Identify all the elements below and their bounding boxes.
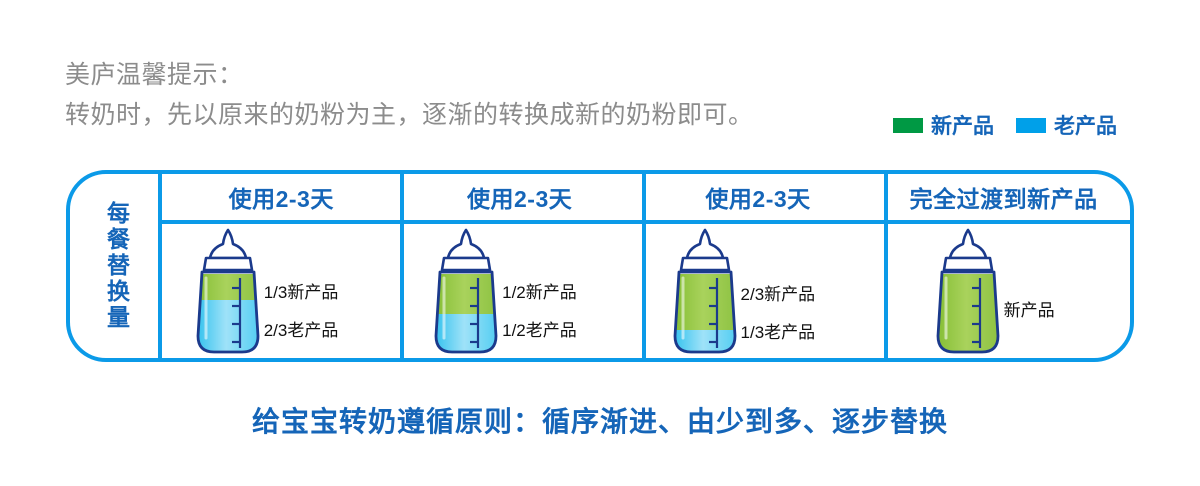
bottle-stage-3: 2/3新产品 1/3老产品: [641, 224, 876, 359]
table-header-col-4: 完全过渡到新产品: [877, 174, 1130, 220]
tip-note-line-2: 转奶时，先以原来的奶粉为主，逐渐的转换成新的奶粉即可。: [65, 95, 885, 135]
table-body-row: 1/3新产品 2/3老产品: [162, 224, 1130, 358]
tip-note: 美庐温馨提示： 转奶时，先以原来的奶粉为主，逐渐的转换成新的奶粉即可。: [65, 55, 885, 135]
infographic-canvas: 美庐温馨提示： 转奶时，先以原来的奶粉为主，逐渐的转换成新的奶粉即可。 新产品 …: [0, 0, 1200, 486]
table-cell-stage-2: 1/2新产品 1/2老产品: [400, 224, 638, 358]
bottle-stage-2-labels: 1/2新产品 1/2老产品: [502, 224, 637, 359]
table-header-col-3: 使用2-3天: [639, 174, 877, 220]
bottle-stage-4-labels: 新产品: [1004, 224, 1139, 359]
transition-table: 每餐替换量 使用2-3天 使用2-3天 使用2-3天 完全过渡到新产品: [66, 170, 1134, 362]
table-cell-stage-4: 新产品: [877, 224, 1130, 358]
table-header-col-1: 使用2-3天: [162, 174, 400, 220]
baby-bottle-icon: [922, 226, 1014, 358]
bottle-stage-1: 1/3新产品 2/3老产品: [164, 224, 399, 359]
bottle-stage-1-new-label: 1/3新产品: [264, 278, 339, 303]
baby-bottle-icon: [420, 226, 512, 358]
table-header-row: 使用2-3天 使用2-3天 使用2-3天 完全过渡到新产品: [162, 174, 1130, 220]
bottle-stage-3-old-label: 1/3老产品: [741, 318, 816, 343]
legend-swatch-blue: [1016, 118, 1046, 133]
bottle-stage-1-labels: 1/3新产品 2/3老产品: [264, 224, 399, 359]
table-cell-stage-1: 1/3新产品 2/3老产品: [162, 224, 400, 358]
bottle-stage-3-new-label: 2/3新产品: [741, 280, 816, 305]
legend-item-old-product: 老产品: [1016, 110, 1117, 140]
table-header-col-2: 使用2-3天: [400, 174, 638, 220]
bottle-stage-2-old-label: 1/2老产品: [502, 316, 577, 341]
baby-bottle-icon: [659, 226, 751, 358]
legend-item-new-product: 新产品: [893, 110, 994, 140]
bottle-stage-2: 1/2新产品 1/2老产品: [402, 224, 637, 359]
bottom-slogan: 给宝宝转奶遵循原则：循序渐进、由少到多、逐步替换: [0, 400, 1200, 440]
legend-label-old-product: 老产品: [1054, 110, 1117, 140]
bottle-stage-1-old-label: 2/3老产品: [264, 316, 339, 341]
baby-bottle-icon: [182, 226, 274, 358]
bottle-stage-4-new-label: 新产品: [1004, 296, 1055, 321]
tip-note-line-1: 美庐温馨提示：: [65, 55, 885, 95]
table-cell-stage-3: 2/3新产品 1/3老产品: [639, 224, 877, 358]
bottle-stage-3-labels: 2/3新产品 1/3老产品: [741, 224, 876, 359]
row-label-text: 每餐替换量: [105, 201, 128, 331]
bottle-stage-4: 新产品: [904, 224, 1104, 359]
row-label-cell: 每餐替换量: [70, 174, 162, 358]
legend-label-new-product: 新产品: [931, 110, 994, 140]
bottle-stage-2-new-label: 1/2新产品: [502, 278, 577, 303]
legend: 新产品 老产品: [893, 110, 1117, 140]
legend-swatch-green: [893, 118, 923, 133]
